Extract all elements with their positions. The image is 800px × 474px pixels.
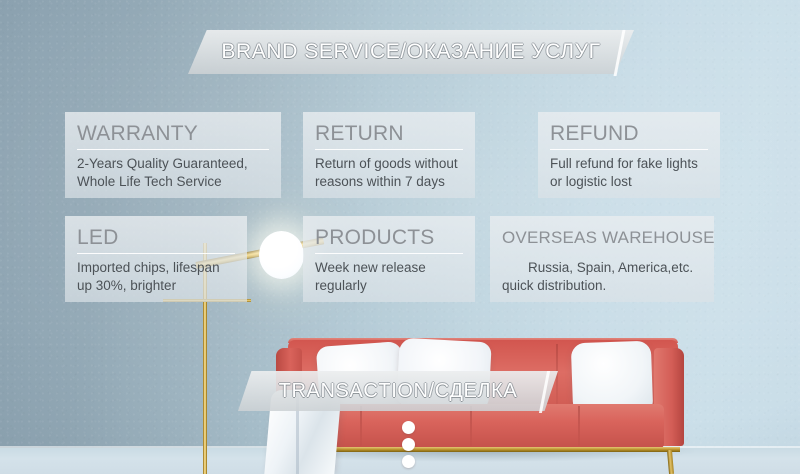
card-divider bbox=[77, 253, 235, 254]
card-body-refund: Full refund for fake lights or logistic … bbox=[550, 155, 708, 191]
header-banner: BRAND SERVICE/ОКАЗАНИЕ УСЛУГ bbox=[188, 30, 634, 74]
feature-card-refund: REFUND Full refund for fake lights or lo… bbox=[538, 112, 720, 198]
card-body-line: quick distribution. bbox=[502, 277, 702, 295]
card-body-line: or logistic lost bbox=[550, 173, 708, 191]
feature-card-warranty: WARRANTY 2-Years Quality Guaranteed, Who… bbox=[65, 112, 281, 198]
sofa-gold-rail bbox=[288, 447, 680, 452]
card-body-line: reasons within 7 days bbox=[315, 173, 463, 191]
feature-card-led: LED Imported chips, lifespan up 30%, bri… bbox=[65, 216, 247, 302]
card-body-led: Imported chips, lifespan up 30%, brighte… bbox=[77, 259, 235, 295]
card-title-products: PRODUCTS bbox=[315, 226, 463, 250]
decor-dot bbox=[402, 421, 415, 434]
decor-dot bbox=[402, 438, 415, 451]
card-body-overseas-warehouse: Russia, Spain, America,etc. quick distri… bbox=[502, 259, 702, 295]
card-title-refund: REFUND bbox=[550, 122, 708, 146]
floor-lamp-globe bbox=[259, 231, 304, 279]
card-body-line: Full refund for fake lights bbox=[550, 155, 708, 173]
card-body-line: Russia, Spain, America,etc. bbox=[502, 259, 702, 277]
card-title-overseas-warehouse: OVERSEAS WAREHOUSE bbox=[502, 226, 702, 250]
decor-dot bbox=[402, 455, 415, 468]
promo-banner-scene: BRAND SERVICE/ОКАЗАНИЕ УСЛУГ WARRANTY 2-… bbox=[0, 0, 800, 474]
card-title-led: LED bbox=[77, 226, 235, 250]
card-title-return: RETURN bbox=[315, 122, 463, 146]
feature-card-products: PRODUCTS Week new release regularly bbox=[303, 216, 475, 302]
card-body-line: up 30%, brighter bbox=[77, 277, 235, 295]
card-body-return: Return of goods without reasons within 7… bbox=[315, 155, 463, 191]
card-body-line: regularly bbox=[315, 277, 463, 295]
sofa-seat-crease bbox=[578, 406, 580, 446]
sofa-seat-crease bbox=[360, 406, 362, 446]
card-body-line: Return of goods without bbox=[315, 155, 463, 173]
feature-card-return: RETURN Return of goods without reasons w… bbox=[303, 112, 475, 198]
card-body-line: 2-Years Quality Guaranteed, bbox=[77, 155, 269, 173]
card-body-line: Week new release bbox=[315, 259, 463, 277]
card-divider bbox=[77, 149, 269, 150]
card-body-warranty: 2-Years Quality Guaranteed, Whole Life T… bbox=[77, 155, 269, 191]
card-body-line: Imported chips, lifespan bbox=[77, 259, 235, 277]
card-title-warranty: WARRANTY bbox=[77, 122, 269, 146]
card-divider bbox=[550, 149, 708, 150]
card-divider bbox=[315, 149, 463, 150]
feature-card-overseas-warehouse: OVERSEAS WAREHOUSE Russia, Spain, Americ… bbox=[490, 216, 714, 302]
footer-banner: TRANSACTION/СДЕЛКА bbox=[238, 371, 558, 411]
card-divider bbox=[315, 253, 463, 254]
card-body-line: Whole Life Tech Service bbox=[77, 173, 269, 191]
card-body-products: Week new release regularly bbox=[315, 259, 463, 295]
sofa-seat-crease bbox=[470, 406, 472, 446]
